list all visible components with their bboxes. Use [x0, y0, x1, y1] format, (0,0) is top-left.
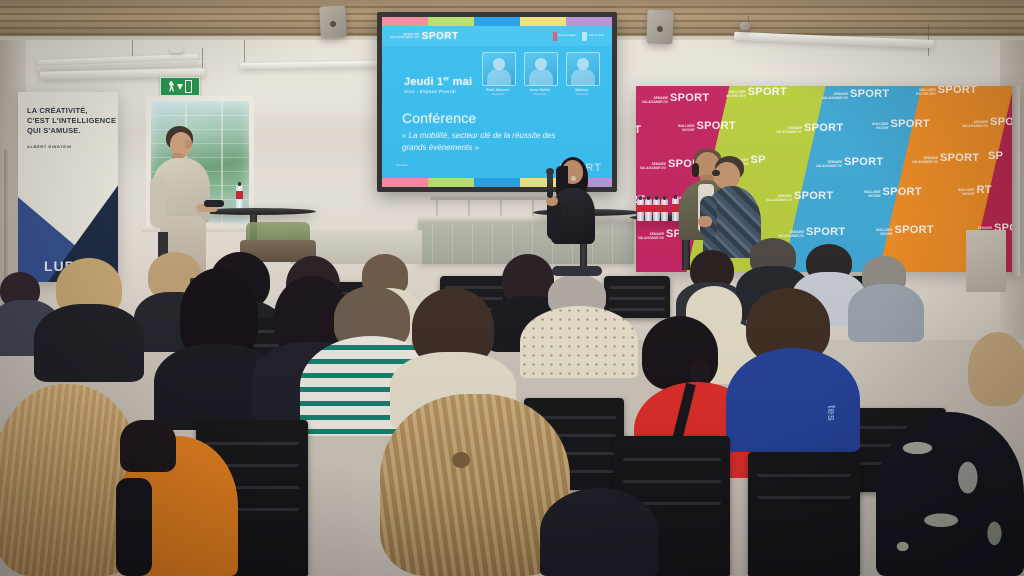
backdrop-wordmark: SEMAINEVALAISANNE DUSPORT: [912, 152, 979, 164]
guard-rail-top: [430, 196, 558, 200]
ceiling-speaker-left: [319, 5, 347, 38]
slide-heading: Conférence: [402, 110, 476, 126]
backdrop-wordmark: WALLISERWOCHERT: [958, 184, 992, 196]
attendee-orange-top-bag: [116, 478, 152, 576]
chair-back-3: [604, 276, 670, 318]
backdrop-right-edge: [1012, 86, 1020, 276]
attendee-row1-h-torso: [848, 284, 924, 342]
backdrop-wordmark: SEMAINEVALAISANNE DUSPORT: [776, 122, 843, 134]
speaker-name-1: Rudi Jakomet: [482, 88, 514, 92]
backdrop-wordmark: WALLISERWOCHE DESSPORT: [916, 86, 977, 96]
moderator-earring: [571, 176, 576, 181]
slide-partner-logos: Etat du Valais Ville de Sion: [553, 32, 604, 41]
backdrop-wordmark: SEMAINEVALAISANNE DUSPORT: [642, 92, 709, 104]
moderator-arm: [547, 200, 561, 240]
running-man-icon: [169, 81, 175, 92]
slide-top-stripe: [382, 17, 612, 26]
backdrop-wordmark: RT: [636, 124, 641, 136]
water-bottle-2: [645, 199, 652, 221]
attendee-front-dark-torso: [540, 488, 658, 576]
guard-rail-post-3: [500, 196, 502, 218]
partner-logo-1: Etat du Valais: [553, 32, 576, 41]
backdrop-wordmark: SP: [988, 150, 1003, 162]
chair-front-3: [748, 452, 860, 576]
water-bottle-1: [637, 199, 644, 221]
attendee-patterned-print: [876, 412, 1024, 576]
slide-logo: SEMAINE VALAISANNE DU SPORT: [390, 31, 459, 42]
guard-rail-post-2: [468, 196, 470, 218]
backdrop-wordmark: WALLISERWOCHESPORT: [876, 224, 934, 236]
rollup-banner-quote: LA CRÉATIVITÉ, C'EST L'INTELLIGENCE QUI …: [18, 92, 118, 282]
down-arrow-icon: [177, 84, 183, 90]
water-bottle-5: [672, 198, 679, 221]
slide-date: Jeudi 1er mai: [404, 76, 472, 88]
speaker-role-2: Intervenante: [524, 93, 556, 96]
speaker-name-2: Anne Sylvie: [524, 88, 556, 92]
water-bottle-left-table: [236, 185, 243, 208]
speaker-portrait-2: [524, 52, 558, 86]
slide-footer-logo: Swisslos: [396, 164, 408, 168]
backdrop-wordmark: WALLISERWOCHESPORT: [864, 186, 922, 198]
attendee-orange-top-hair: [120, 420, 176, 472]
backdrop-wordmark: SEMAINEVALAISANNE DUSPORT: [778, 226, 845, 238]
guard-rail-post-1: [436, 196, 438, 218]
speaker-card-2: Anne Sylvie Intervenante: [524, 52, 556, 96]
partner-logo-2: Ville de Sion: [582, 32, 604, 41]
banner-quote-line1: LA CRÉATIVITÉ,: [27, 106, 88, 116]
speaker-card-3: Mathieu Intervenant: [566, 52, 598, 96]
panelist-plaid-hand: [698, 216, 712, 227]
handheld-microphone: [547, 172, 553, 198]
panelist-plaid-glasses: [712, 170, 720, 176]
slide-subtitle: Sion - Espace Pravidi: [404, 89, 456, 94]
slide-body: SEMAINE VALAISANNE DU SPORT Etat du Vala…: [382, 26, 612, 178]
water-bottle-4: [661, 199, 668, 221]
panelist-bald-beard: [692, 163, 699, 177]
sunglasses-on-head-icon: [552, 266, 602, 276]
speaker-portrait-3: [566, 52, 600, 86]
emergency-exit-sign: [160, 77, 200, 96]
banner-quote-line3: QUI S'AMUSE.: [27, 126, 81, 136]
backdrop-wordmark: WALLISERWOCHE DESSPORT: [726, 86, 787, 98]
attendee-blue-polo-logo: tes: [807, 405, 837, 433]
presenter-left-device: [204, 200, 224, 207]
backdrop-wordmark: WALLISERWOCHESPORT: [872, 118, 930, 130]
smoke-detector: [170, 44, 183, 53]
speaker-role-3: Intervenant: [566, 93, 598, 96]
banner-quote-line2: C'EST L'INTELLIGENCE: [27, 116, 116, 126]
pendant-wire-left2: [202, 48, 203, 70]
backdrop-wordmark: WALLISERWOCHESPORT: [678, 120, 736, 132]
attendee-patterned-hair: [968, 332, 1024, 406]
attendee-blue-polo-torso: [726, 348, 860, 452]
attendee-dotted-shirt-pattern: [520, 306, 638, 378]
wall-niche-right: [966, 230, 1006, 292]
speaker-role-1: Modérateur: [482, 93, 514, 96]
backdrop-wordmark: SEMAINEVALAISANNE DUSPORT: [766, 190, 833, 202]
ceiling-mount-bracket: [740, 22, 750, 30]
backdrop-wordmark: SEMAINEVALAISANNE DUSPORT: [816, 156, 883, 168]
conference-room-photo: ······· LA CRÉATIVITÉ, C'EST L'INTELLIGE…: [0, 0, 1024, 576]
slide-logo-kicker2: VALAISANNE DU: [390, 35, 420, 39]
exit-door-icon: [185, 80, 192, 93]
speaker-portrait-1: [482, 52, 516, 86]
water-bottle-3: [653, 199, 660, 221]
slide-quote: « La mobilité, secteur clé de la réussit…: [402, 130, 582, 154]
speaker-name-3: Mathieu: [566, 88, 598, 92]
backdrop-wordmark: SEMAINEVALAISANNE DUSPORT: [822, 88, 889, 100]
attendee-braided-front-clip: [452, 452, 470, 468]
speaker-card-1: Rudi Jakomet Modérateur: [482, 52, 514, 96]
slide-logo-wordmark: SPORT: [422, 31, 459, 42]
attendee-blonde-mid-torso: [34, 304, 144, 382]
slide-header: SEMAINE VALAISANNE DU SPORT Etat du Vala…: [382, 26, 612, 46]
pendant-wire-center: [244, 40, 245, 62]
ceiling-speaker-right: [646, 10, 673, 45]
banner-attribution: ALBERT EINSTEIN: [27, 144, 72, 149]
slide-speaker-portraits: Rudi Jakomet Modérateur Anne Sylvie Inte…: [482, 52, 598, 96]
